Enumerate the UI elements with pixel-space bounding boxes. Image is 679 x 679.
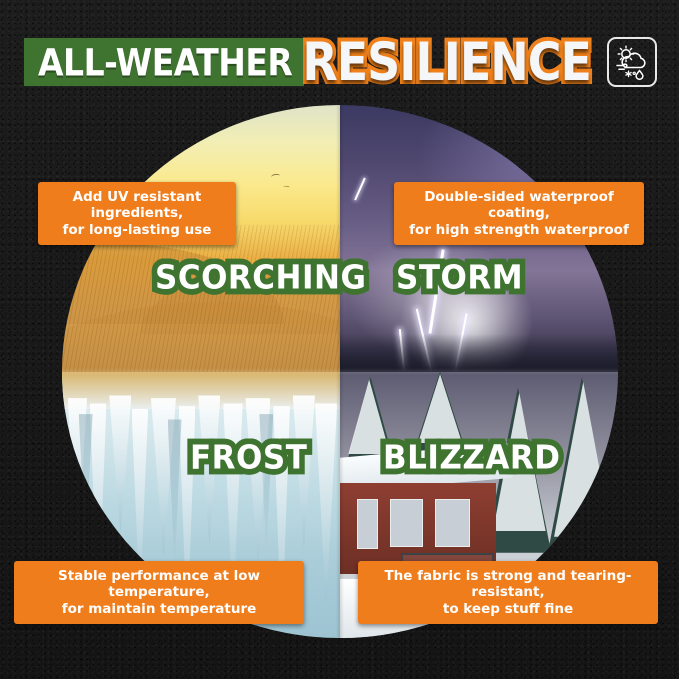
mixed-weather-icon	[607, 37, 657, 87]
callout-storm: Double-sided waterproof coating, for hig…	[394, 182, 644, 245]
quadrant-title-blizzard: BLIZZARD	[383, 442, 560, 475]
header-title-primary: ALL-WEATHER	[38, 40, 292, 84]
callout-line-2: to keep stuff fine	[368, 601, 648, 617]
quadrant-seam-horizontal	[62, 368, 618, 375]
quadrant-title-storm: STORM	[396, 262, 523, 295]
callout-scorching: Add UV resistant ingredients, for long-l…	[38, 182, 236, 245]
cabin-window	[390, 499, 423, 546]
bird-silhouette-icon	[283, 185, 290, 189]
callout-blizzard: The fabric is strong and tearing-resista…	[358, 561, 658, 624]
callout-line-2: for maintain temperature	[24, 601, 294, 617]
infographic-canvas: ALL-WEATHER RESILIENCE	[0, 0, 679, 679]
storm-horizon-shadow	[340, 334, 618, 371]
callout-line-1: Stable performance at low temperature,	[24, 568, 294, 601]
callout-line-1: Add UV resistant ingredients,	[48, 189, 226, 222]
quadrant-title-frost: FROST	[190, 442, 307, 475]
callout-line-2: for long-lasting use	[48, 222, 226, 238]
cabin-window	[357, 499, 378, 549]
header-green-banner: ALL-WEATHER	[24, 38, 304, 86]
header-title-secondary: RESILIENCE	[302, 36, 591, 88]
callout-frost: Stable performance at low temperature, f…	[14, 561, 304, 624]
cabin-window	[435, 499, 470, 546]
callout-line-2: for high strength waterproof	[404, 222, 634, 238]
header-banner: ALL-WEATHER RESILIENCE	[24, 32, 657, 92]
sand-ripple-texture	[62, 225, 340, 372]
callout-line-1: The fabric is strong and tearing-resista…	[368, 568, 648, 601]
quadrant-title-scorching: SCORCHING	[155, 262, 366, 295]
callout-line-1: Double-sided waterproof coating,	[404, 189, 634, 222]
